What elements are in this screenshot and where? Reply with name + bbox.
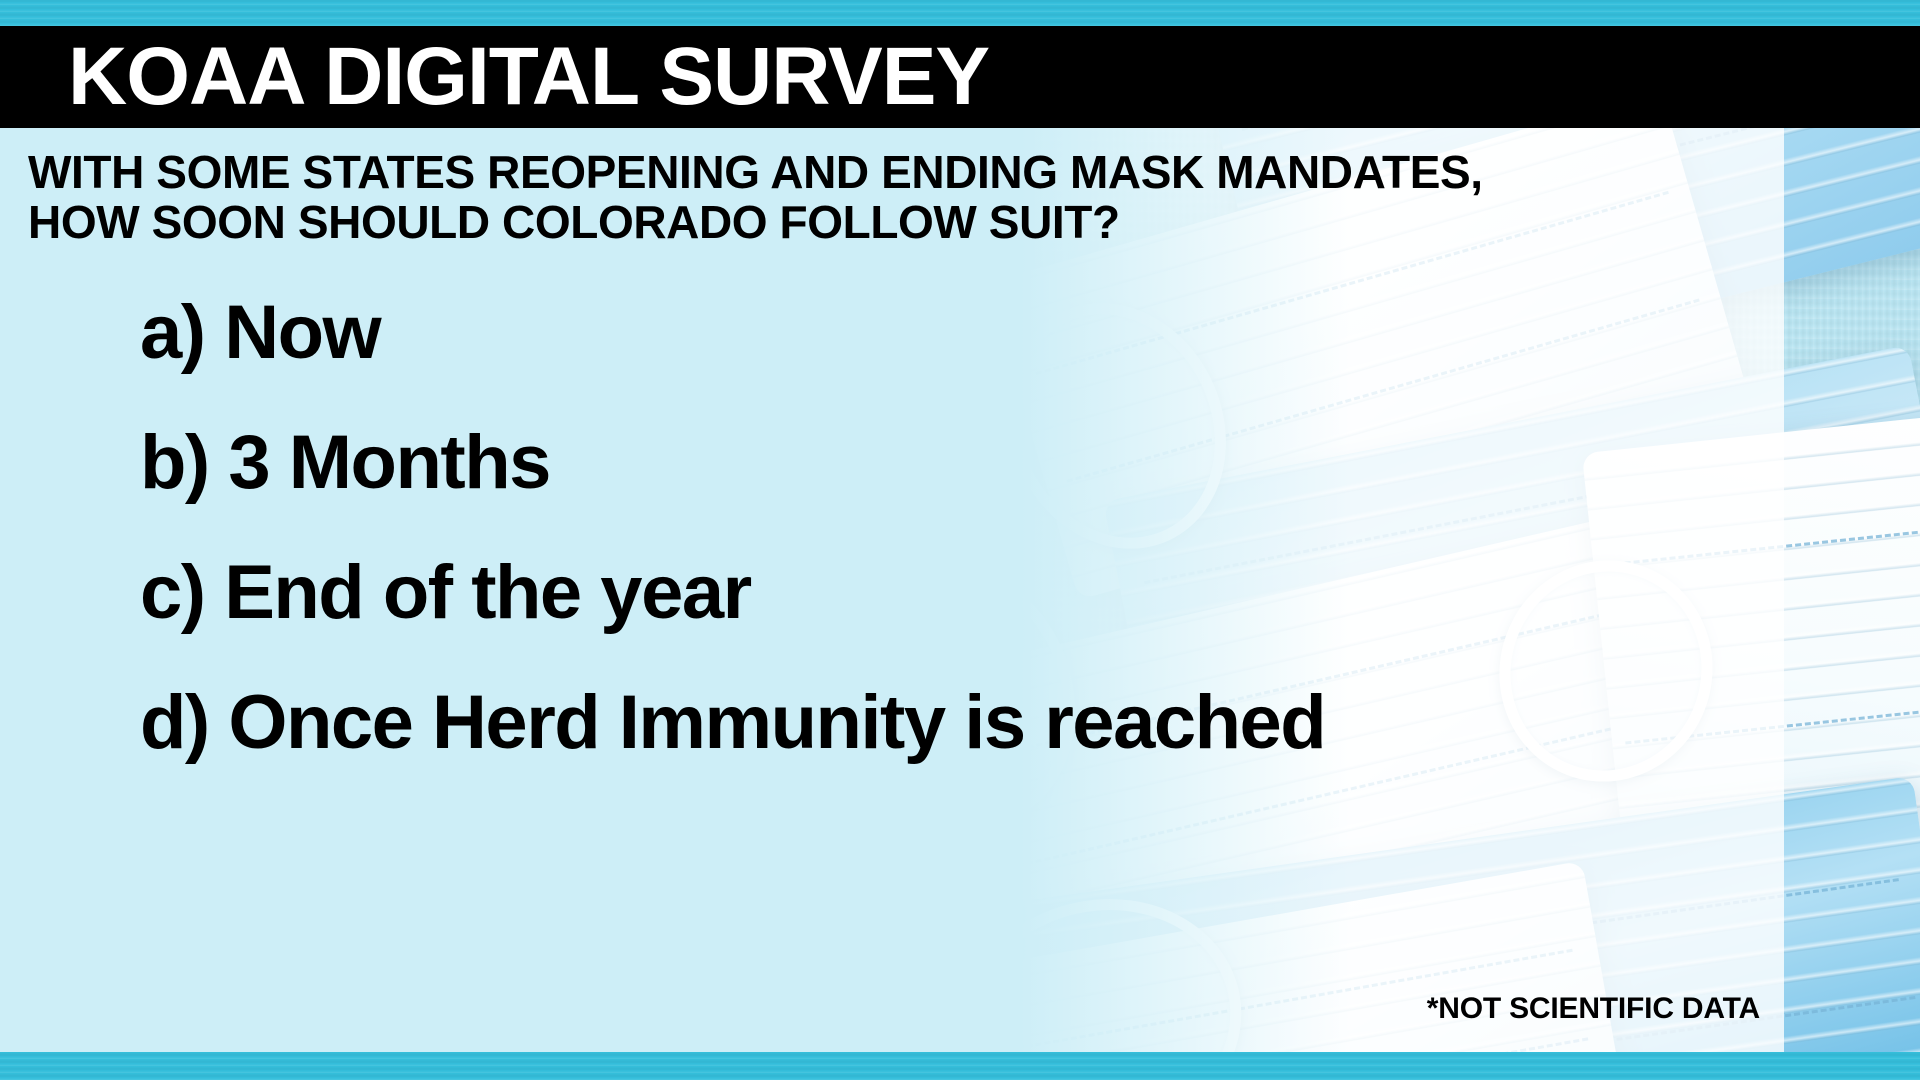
bottom-cyan-band	[0, 1052, 1920, 1080]
answer-option-a[interactable]: a) Now	[140, 268, 1760, 398]
page-title: KOAA DIGITAL SURVEY	[68, 38, 989, 116]
title-bar: KOAA DIGITAL SURVEY	[0, 26, 1920, 128]
survey-question: WITH SOME STATES REOPENING AND ENDING MA…	[28, 148, 1508, 247]
answer-option-c[interactable]: c) End of the year	[140, 528, 1760, 658]
answer-option-d[interactable]: d) Once Herd Immunity is reached	[140, 658, 1760, 788]
top-cyan-band	[0, 0, 1920, 26]
answer-options-list: a) Now b) 3 Months c) End of the year d)…	[140, 268, 1760, 788]
answer-option-b[interactable]: b) 3 Months	[140, 398, 1760, 528]
disclaimer-note: *NOT SCIENTIFIC DATA	[1427, 992, 1760, 1026]
survey-graphic: KOAA DIGITAL SURVEY WITH SOME STATES REO…	[0, 0, 1920, 1080]
